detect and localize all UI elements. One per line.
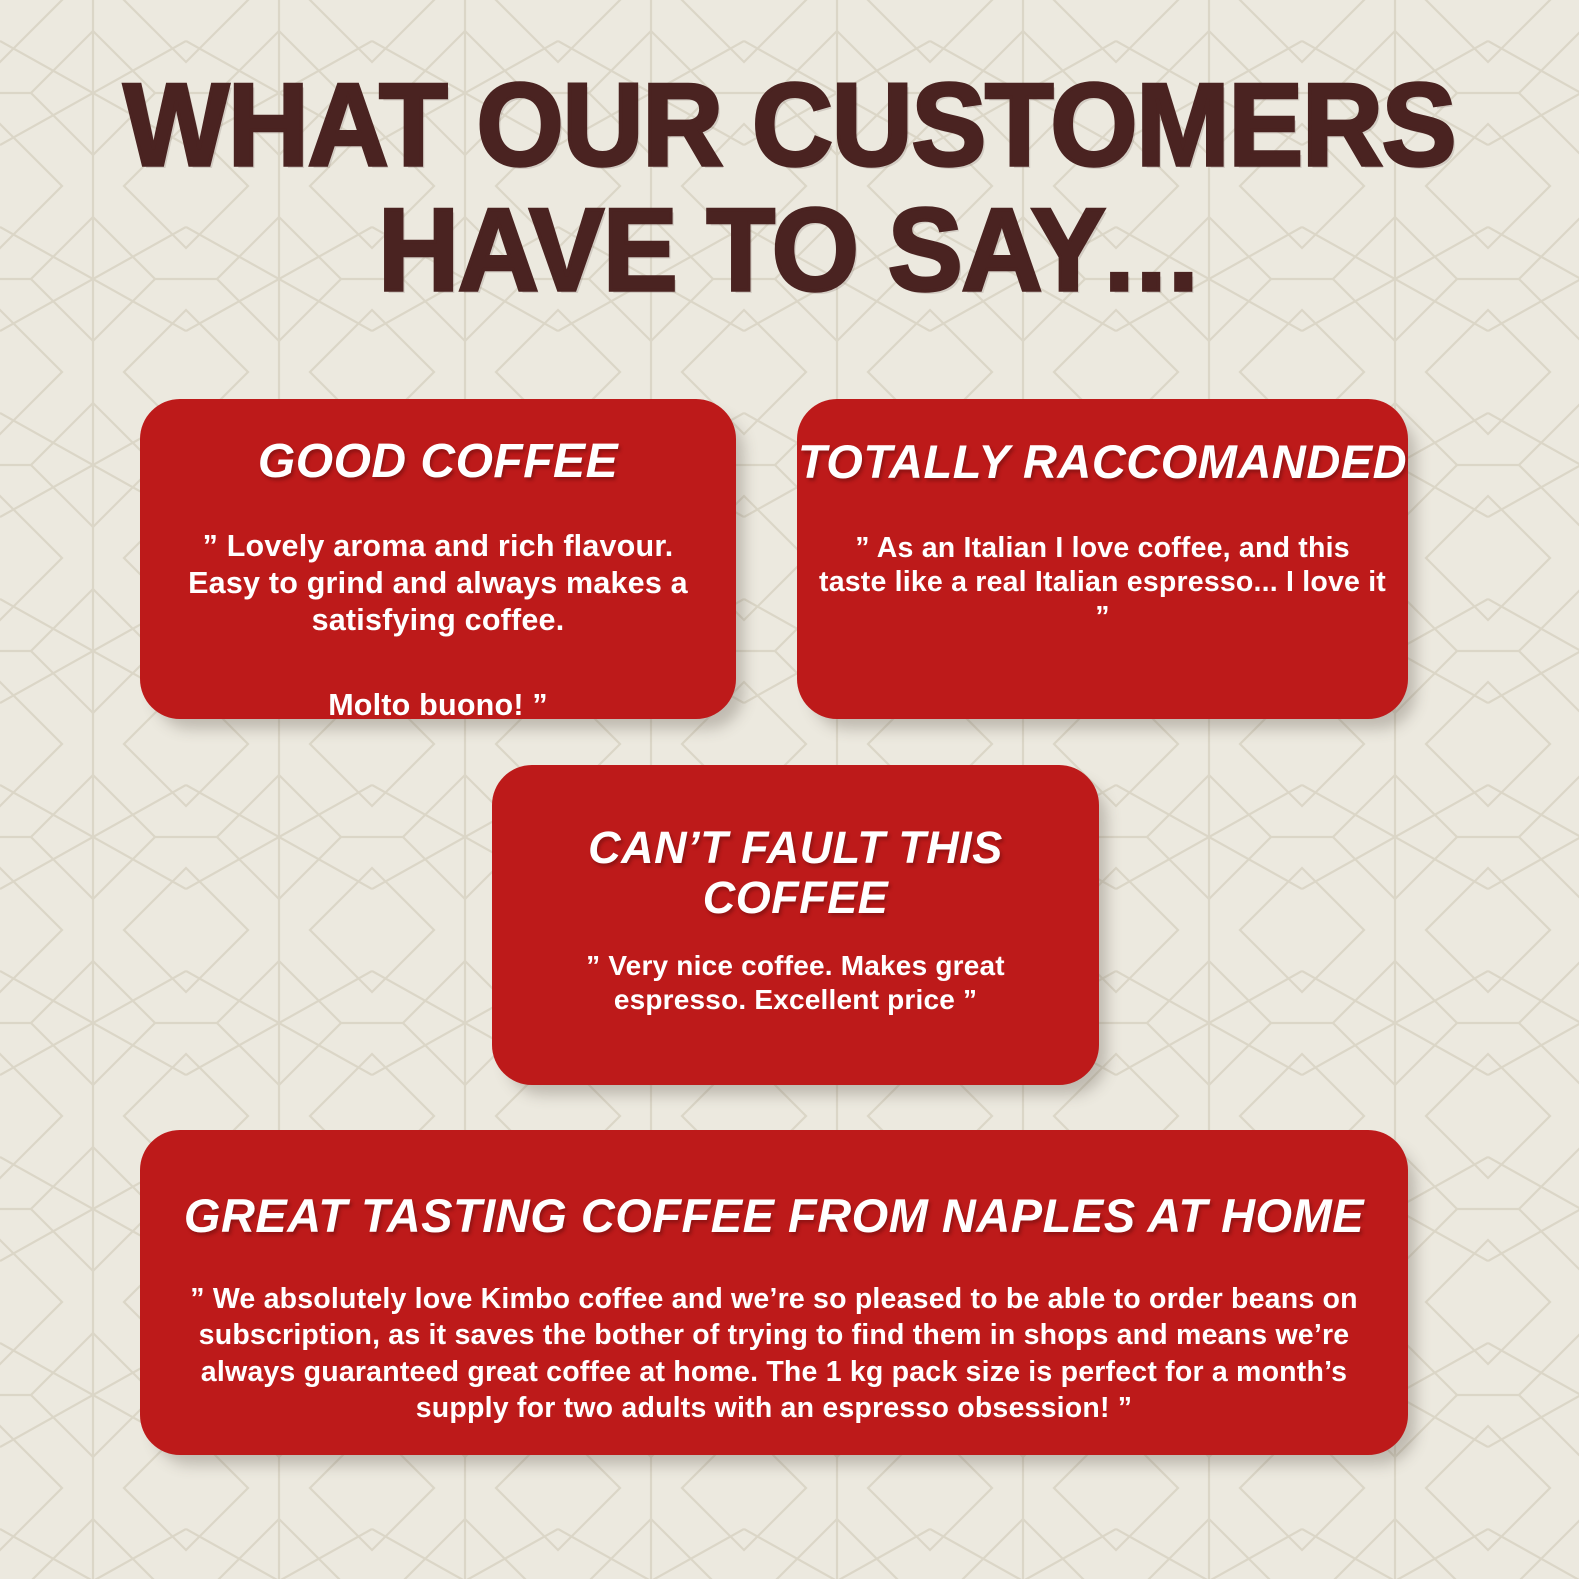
page-title-line-2-text: HAVE TO SAY bbox=[378, 184, 1104, 315]
testimonial-card-great-tasting: GREAT TASTING COFFEE FROM NAPLES AT HOME… bbox=[140, 1130, 1408, 1455]
testimonial-card-totally-raccomanded: TOTALLY RACCOMANDED ” As an Italian I lo… bbox=[797, 399, 1408, 719]
page-title: WHAT OUR CUSTOMERS HAVE TO SAY... bbox=[36, 62, 1544, 312]
page-title-line-1: WHAT OUR CUSTOMERS bbox=[36, 62, 1544, 187]
testimonial-quote-paragraph: ” As an Italian I love coffee, and this … bbox=[819, 531, 1386, 635]
testimonial-quote: ” Lovely aroma and rich flavour. Easy to… bbox=[140, 528, 736, 719]
testimonials-page: WHAT OUR CUSTOMERS HAVE TO SAY... GOOD C… bbox=[0, 0, 1579, 1579]
testimonial-title: GOOD COFFEE bbox=[140, 435, 736, 489]
testimonial-quote-paragraph: ” We absolutely love Kimbo coffee and we… bbox=[180, 1281, 1368, 1427]
testimonial-quote-paragraph: ” Lovely aroma and rich flavour. Easy to… bbox=[166, 528, 710, 640]
testimonial-card-cant-fault: CAN’T FAULT THIS COFFEE ” Very nice coff… bbox=[492, 765, 1099, 1085]
testimonial-quote: ” We absolutely love Kimbo coffee and we… bbox=[140, 1281, 1408, 1427]
testimonial-title: TOTALLY RACCOMANDED bbox=[797, 436, 1408, 489]
testimonial-title: CAN’T FAULT THIS COFFEE bbox=[492, 823, 1099, 924]
testimonial-quote: ” As an Italian I love coffee, and this … bbox=[797, 531, 1408, 635]
testimonial-quote: ” Very nice coffee. Makes great espresso… bbox=[492, 949, 1099, 1017]
page-title-ellipsis: ... bbox=[1105, 191, 1201, 314]
testimonial-quote-paragraph: ” Very nice coffee. Makes great espresso… bbox=[538, 949, 1053, 1017]
testimonial-card-good-coffee: GOOD COFFEE ” Lovely aroma and rich flav… bbox=[140, 399, 736, 719]
testimonial-title: GREAT TASTING COFFEE FROM NAPLES AT HOME bbox=[140, 1190, 1408, 1243]
testimonial-quote-paragraph: Molto buono! ” bbox=[166, 687, 710, 719]
page-title-line-2: HAVE TO SAY... bbox=[36, 187, 1544, 312]
